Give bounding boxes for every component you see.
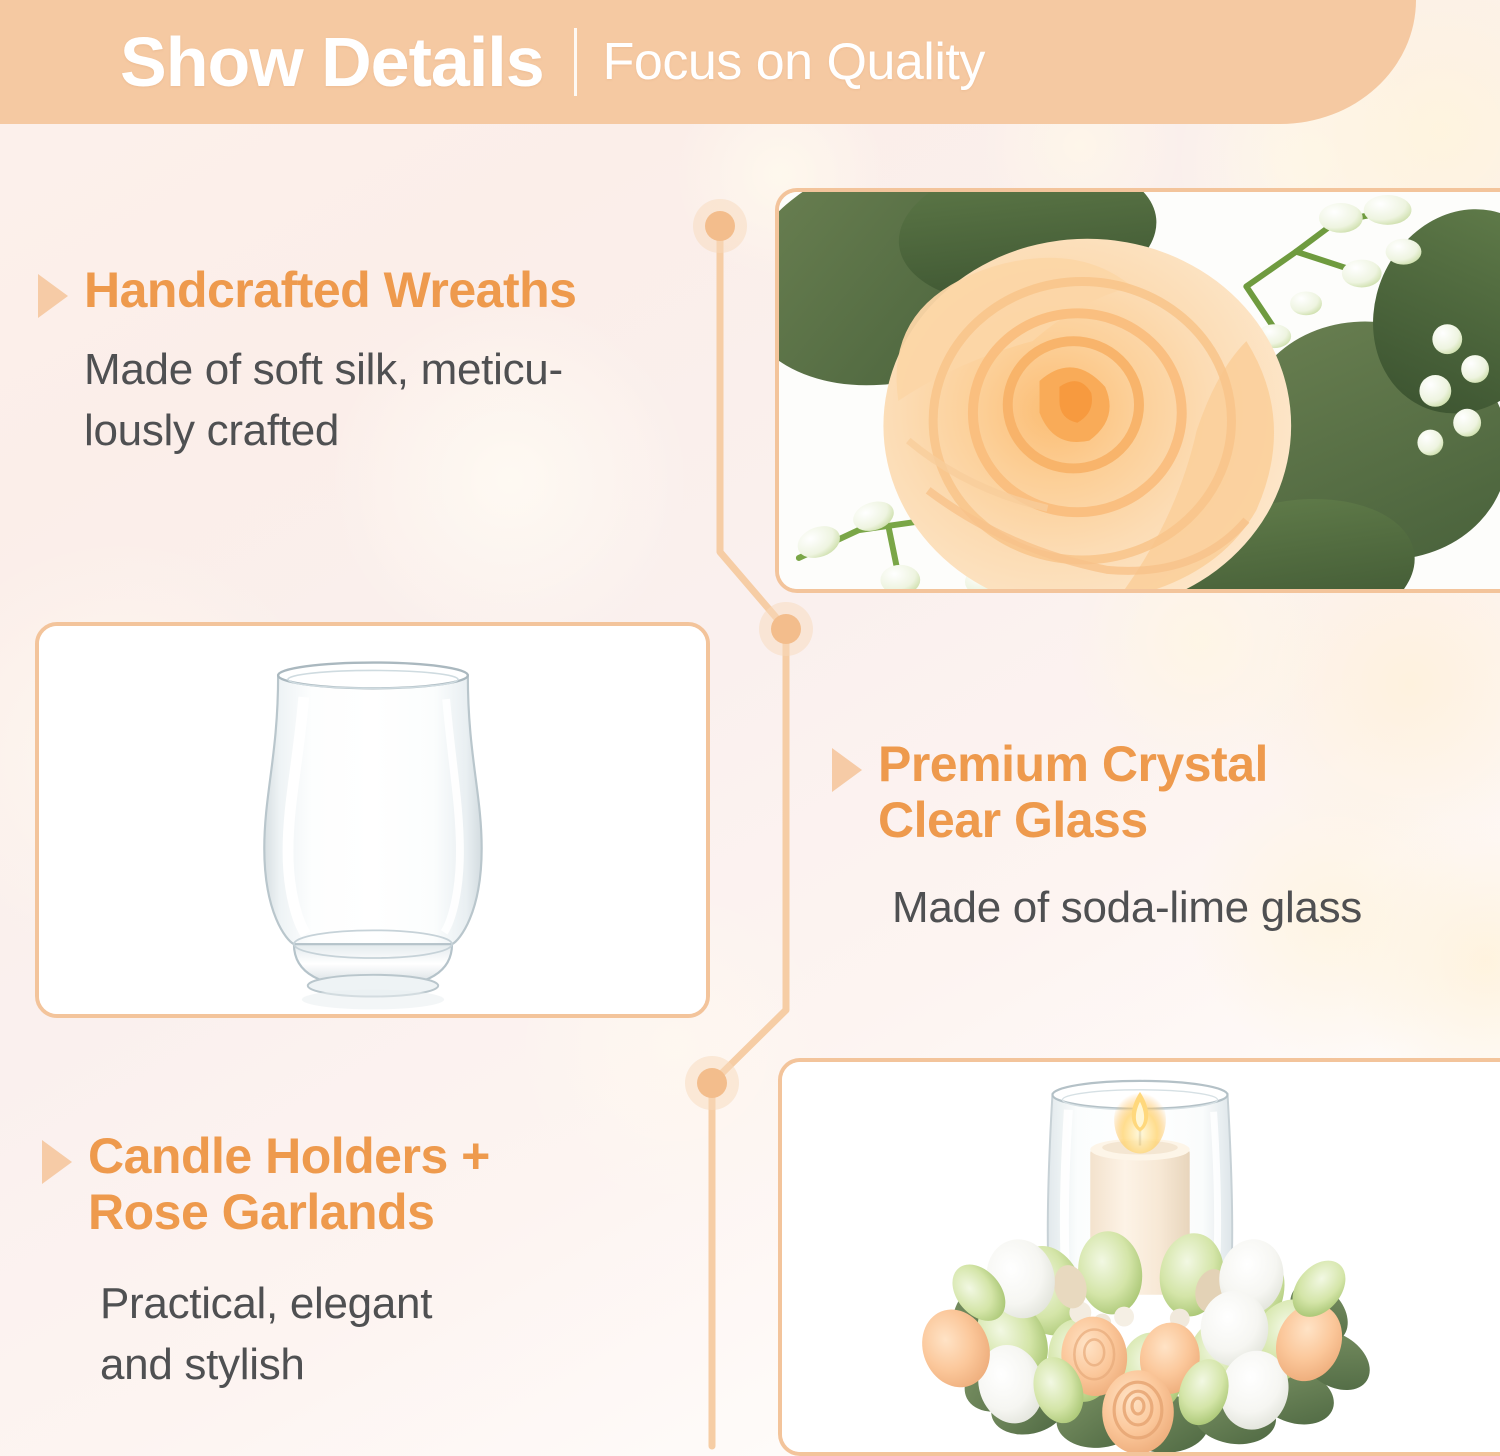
candle-centerpiece-photo — [782, 1062, 1500, 1456]
feature-candle-holders-rose-garlands: Candle Holders + Rose Garlands Practical… — [42, 1128, 662, 1395]
photo-card-candle-centerpiece — [778, 1058, 1500, 1456]
triangle-right-icon — [38, 274, 68, 318]
feature-description-line: Made of soda-lime glass — [892, 878, 1452, 939]
photo-card-rose-closeup — [775, 188, 1500, 593]
feature-title: Premium Crystal Clear Glass — [878, 736, 1268, 848]
feature-title-line: Premium Crystal — [878, 736, 1268, 792]
connector-node-bottom — [697, 1068, 727, 1098]
connector-node-bottom-halo — [685, 1056, 739, 1110]
photo-card-glass-vase — [35, 622, 710, 1018]
triangle-right-icon — [832, 748, 862, 792]
header-banner: Show Details Focus on Quality — [0, 0, 1416, 124]
page-title: Show Details — [120, 27, 544, 97]
connector-path-middle — [712, 629, 786, 1083]
header-subtitle: Focus on Quality — [603, 36, 985, 88]
connector-node-middle-halo — [759, 602, 813, 656]
feature-description: Made of soft silk, meticu- lously crafte… — [84, 340, 698, 461]
feature-premium-crystal-clear-glass: Premium Crystal Clear Glass Made of soda… — [832, 736, 1452, 939]
feature-title-line: Rose Garlands — [88, 1184, 490, 1240]
connector-node-middle — [771, 614, 801, 644]
header-divider — [574, 28, 577, 96]
feature-description-line: Practical, elegant — [100, 1274, 662, 1335]
feature-handcrafted-wreaths: Handcrafted Wreaths Made of soft silk, m… — [38, 262, 698, 461]
connector-node-top — [705, 211, 735, 241]
infographic-page: Show Details Focus on Quality Handcrafte… — [0, 0, 1500, 1456]
rose-closeup-photo — [779, 192, 1500, 593]
connector-node-top-halo — [693, 199, 747, 253]
glass-hurricane-vase-photo — [39, 626, 706, 1017]
feature-title: Candle Holders + Rose Garlands — [88, 1128, 490, 1240]
feature-title: Handcrafted Wreaths — [84, 262, 576, 318]
feature-description: Made of soda-lime glass — [892, 878, 1452, 939]
feature-description-line: and stylish — [100, 1335, 662, 1396]
feature-description-line: lously crafted — [84, 401, 698, 462]
feature-description-line: Made of soft silk, meticu- — [84, 340, 698, 401]
feature-description: Practical, elegant and stylish — [100, 1274, 662, 1395]
feature-title-line: Clear Glass — [878, 792, 1268, 848]
triangle-right-icon — [42, 1140, 72, 1184]
feature-title-line: Candle Holders + — [88, 1128, 490, 1184]
